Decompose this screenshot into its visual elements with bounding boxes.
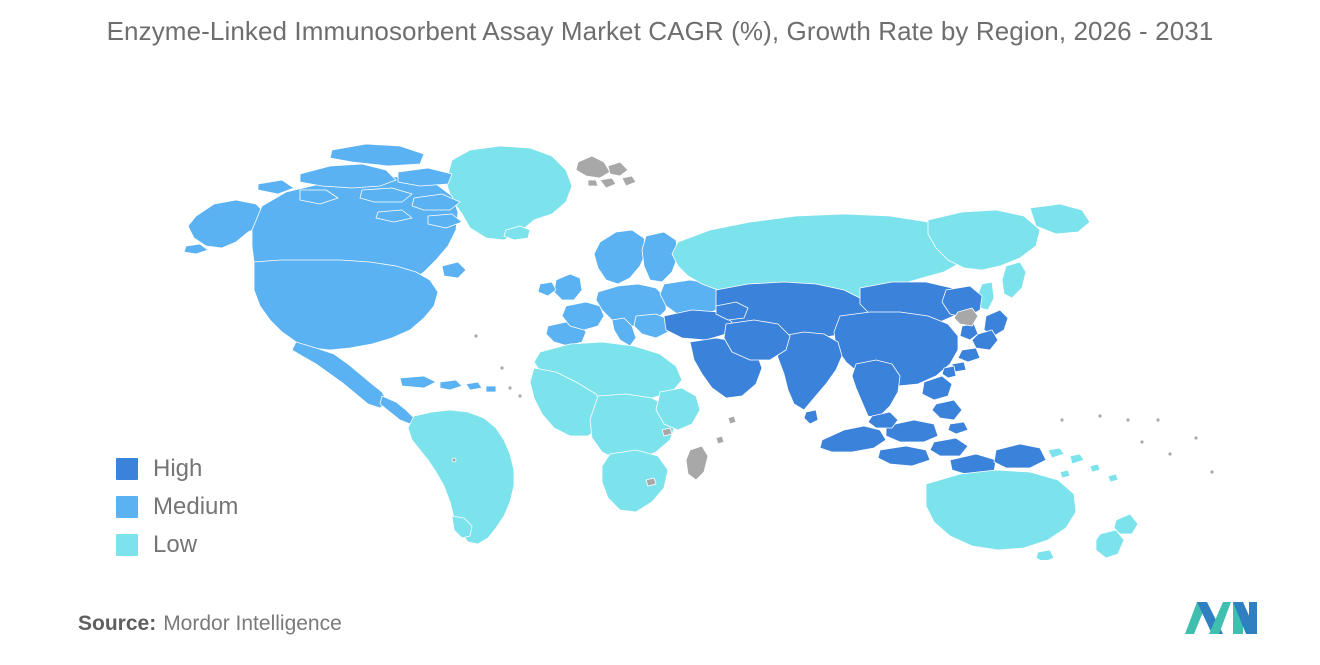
region-new-zealand-south: [1096, 530, 1124, 558]
legend-swatch-high: [116, 458, 138, 480]
map-legend: High Medium Low: [116, 450, 336, 564]
region-pacific-islands: [1048, 448, 1118, 482]
footer: Source:Mordor Intelligence: [0, 600, 1320, 665]
map-regions: [184, 144, 1214, 560]
region-southern-africa: [602, 450, 668, 512]
region-newfoundland: [442, 262, 466, 278]
region-svalbard: [576, 156, 636, 188]
region-indonesia: [820, 420, 996, 476]
mordor-intelligence-logo[interactable]: [1183, 598, 1258, 636]
region-finland-baltics: [642, 232, 678, 282]
source-attribution: Source:Mordor Intelligence: [78, 612, 342, 636]
logo-icon: [1183, 598, 1258, 636]
page-title: Enzyme-Linked Immunosorbent Assay Market…: [50, 14, 1270, 49]
region-taiwan: [942, 366, 956, 378]
region-greenland: [446, 146, 572, 240]
region-kamchatka: [1002, 262, 1026, 298]
legend-item-low[interactable]: Low: [116, 526, 336, 564]
source-label: Source:: [78, 612, 156, 635]
region-british-isles: [554, 274, 582, 300]
region-united-states: [254, 260, 438, 350]
legend-label-medium: Medium: [153, 495, 238, 519]
source-value: Mordor Intelligence: [163, 612, 342, 635]
region-new-zealand: [1114, 514, 1138, 534]
region-madagascar: [686, 446, 708, 480]
region-tasmania: [1036, 550, 1054, 560]
legend-label-low: Low: [153, 533, 197, 557]
region-mexico: [292, 342, 388, 408]
region-aleutians: [184, 244, 208, 254]
region-ireland: [538, 282, 556, 296]
region-papua-new-guinea: [994, 444, 1046, 468]
legend-swatch-medium: [116, 496, 138, 518]
region-caribbean: [400, 376, 496, 392]
region-sri-lanka: [804, 410, 818, 424]
region-australia: [926, 470, 1076, 550]
legend-item-medium[interactable]: Medium: [116, 488, 336, 526]
region-southeast-asia: [852, 360, 900, 418]
legend-swatch-low: [116, 534, 138, 556]
region-scandinavia: [594, 230, 646, 284]
legend-label-high: High: [153, 457, 202, 481]
region-central-america: [380, 396, 414, 424]
chart-page: Enzyme-Linked Immunosorbent Assay Market…: [0, 0, 1320, 665]
legend-item-high[interactable]: High: [116, 450, 336, 488]
region-micronesia-dots: [1060, 414, 1214, 474]
